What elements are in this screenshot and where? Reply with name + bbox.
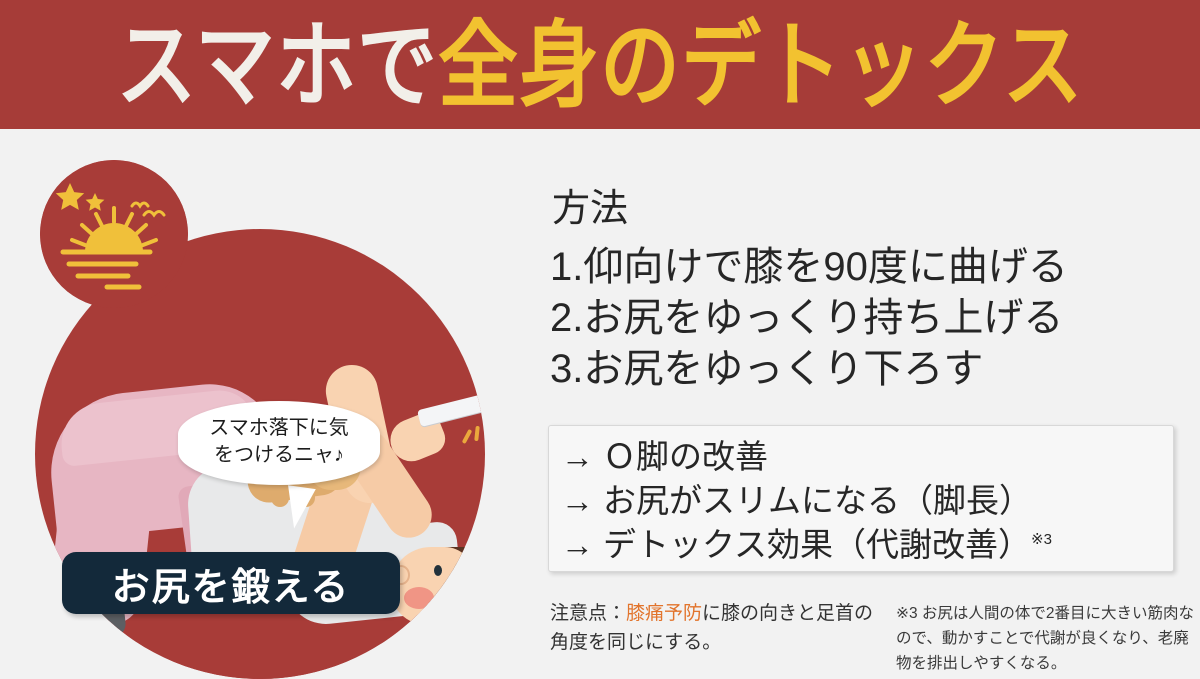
caution-note: 注意点：膝痛予防に膝の向きと足首の角度を同じにする。 <box>550 599 880 658</box>
result-text: デトックス効果（代謝改善） <box>603 526 1031 563</box>
speech-bubble: スマホ落下に気 をつけるニャ♪ <box>178 401 380 485</box>
speech-bubble-tail <box>282 485 316 530</box>
page-title: スマホで全身のデトックス <box>116 18 1083 112</box>
caption-badge: お尻を鍛える <box>62 552 400 614</box>
content-panel: 方法 1.仰向けで膝を90度に曲げる 2.お尻をゆっくり持ち上げる 3.お尻をゆ… <box>530 129 1200 676</box>
phone-sparkle-icon <box>462 429 473 444</box>
cheek-blush <box>404 587 434 609</box>
result-item: →デトックス効果（代謝改善）※3 <box>561 523 1173 567</box>
method-heading: 方法 <box>552 190 628 228</box>
arrow-right-icon: → <box>561 438 594 475</box>
method-step: 2.お尻をゆっくり持ち上げる <box>550 293 1190 344</box>
phone-sparkle-icon <box>474 426 480 441</box>
result-text: Ｏ脚の改善 <box>603 438 768 475</box>
smartphone-icon <box>417 392 485 427</box>
result-superscript: ※3 <box>1031 531 1052 548</box>
result-item: →Ｏ脚の改善 <box>561 435 1173 479</box>
page-title-white-part: スマホで <box>116 12 438 117</box>
footnote: ※3 お尻は人間の体で2番目に大きい筋肉なので、動かすことで代謝が良くなり、老廃… <box>896 601 1196 676</box>
sunrise-icon <box>40 160 188 308</box>
speech-bubble-text: スマホ落下に気 をつけるニャ♪ <box>186 415 372 469</box>
method-steps-list: 1.仰向けで膝を90度に曲げる 2.お尻をゆっくり持ち上げる 3.お尻をゆっくり… <box>550 242 1190 394</box>
arrow-right-icon: → <box>561 526 594 563</box>
result-text: お尻がスリムになる（脚長） <box>603 482 1032 519</box>
header-banner: スマホで全身のデトックス <box>0 0 1200 129</box>
phone-sparkle-icon <box>483 428 485 443</box>
results-box: →Ｏ脚の改善 →お尻がスリムになる（脚長） →デトックス効果（代謝改善）※3 <box>548 425 1174 572</box>
eye <box>434 565 442 576</box>
caution-highlight: 膝痛予防 <box>626 603 702 624</box>
head <box>390 547 474 625</box>
method-step: 1.仰向けで膝を90度に曲げる <box>550 242 1190 293</box>
illustration-panel: スマホ落下に気 をつけるニャ♪ お尻を鍛える <box>0 129 530 676</box>
caption-text: お尻を鍛える <box>112 556 351 611</box>
page-title-gold-part: 全身のデトックス <box>438 12 1084 117</box>
caution-prefix: 注意点： <box>550 603 626 624</box>
method-step: 3.お尻をゆっくり下ろす <box>550 344 1190 395</box>
result-item: →お尻がスリムになる（脚長） <box>561 479 1173 523</box>
arrow-right-icon: → <box>561 482 594 519</box>
